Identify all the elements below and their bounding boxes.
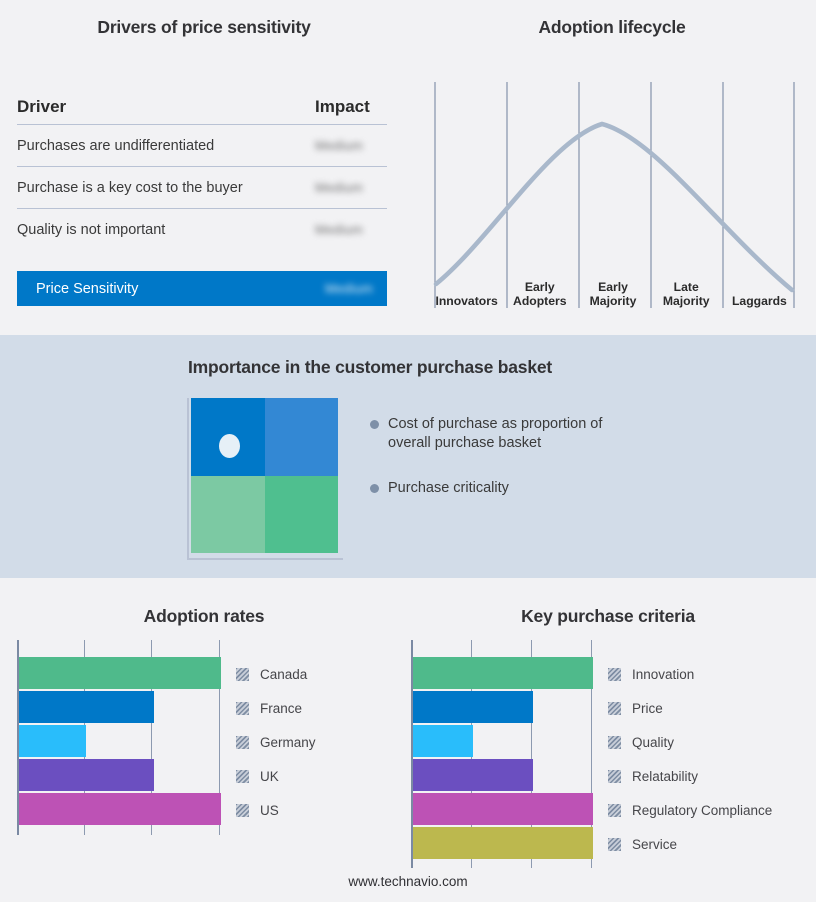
- legend-label: Regulatory Compliance: [632, 803, 772, 818]
- legend-label: Innovation: [632, 667, 694, 682]
- adoption-rates-chart: CanadaFranceGermanyUKUS: [17, 640, 316, 835]
- driver-label: Quality is not important: [17, 222, 165, 238]
- legend-item: US: [236, 793, 316, 827]
- hatched-swatch-icon: [236, 804, 249, 817]
- legend-label: Canada: [260, 667, 307, 682]
- column-header-driver: Driver: [17, 97, 66, 117]
- quadrant-grid: [191, 398, 338, 553]
- quadrant-x-axis: [187, 558, 343, 560]
- bar-france: [19, 691, 154, 723]
- legend-item: Germany: [236, 725, 316, 759]
- legend-item: Price: [608, 691, 772, 725]
- bar-quality: [413, 725, 473, 757]
- drivers-title: Drivers of price sensitivity: [0, 17, 408, 38]
- legend-label: Germany: [260, 735, 316, 750]
- key-purchase-criteria-title: Key purchase criteria: [400, 606, 816, 627]
- legend-label: Service: [632, 837, 677, 852]
- adoption-rates-legend: CanadaFranceGermanyUKUS: [236, 640, 316, 835]
- bar-regulatory-compliance: [413, 793, 593, 825]
- legend-item: Regulatory Compliance: [608, 793, 772, 827]
- bar-canada: [19, 657, 221, 689]
- table-row: Quality is not important Medium: [17, 209, 387, 250]
- footer-url: www.technavio.com: [0, 874, 816, 889]
- table-row: Purchases are undifferentiated Medium: [17, 125, 387, 167]
- quadrant-top-right: [265, 398, 339, 476]
- legend-label: Relatability: [632, 769, 698, 784]
- bullet-dot-icon: [370, 420, 379, 429]
- legend-item: Relatability: [608, 759, 772, 793]
- purchase-basket-legend: Cost of purchase as proportion of overal…: [370, 415, 670, 524]
- key-purchase-criteria-bars: [413, 640, 594, 868]
- position-marker-dot: [219, 434, 240, 458]
- hatched-swatch-icon: [608, 668, 621, 681]
- adoption-rates-title: Adoption rates: [0, 606, 408, 627]
- bar-uk: [19, 759, 154, 791]
- legend-item: Innovation: [608, 657, 772, 691]
- adoption-rates-plot: [17, 640, 222, 835]
- hatched-swatch-icon: [608, 702, 621, 715]
- hatched-swatch-icon: [608, 838, 621, 851]
- adoption-lifecycle-title: Adoption lifecycle: [408, 17, 816, 38]
- legend-label: UK: [260, 769, 279, 784]
- impact-value: Medium: [315, 222, 387, 238]
- purchase-basket-panel: Importance in the customer purchase bask…: [0, 335, 816, 578]
- hatched-swatch-icon: [236, 736, 249, 749]
- lifecycle-segment-early-adopters: EarlyAdopters: [503, 268, 576, 310]
- legend-item: Service: [608, 827, 772, 861]
- bar-service: [413, 827, 593, 859]
- adoption-lifecycle-chart: Innovators EarlyAdopters EarlyMajority L…: [430, 80, 796, 310]
- quadrant-y-axis: [187, 398, 189, 558]
- quadrant-bottom-right: [265, 476, 339, 554]
- driver-label: Purchase is a key cost to the buyer: [17, 180, 243, 196]
- legend-item: Quality: [608, 725, 772, 759]
- bar-innovation: [413, 657, 593, 689]
- lifecycle-segment-late-majority: LateMajority: [650, 268, 723, 310]
- hatched-swatch-icon: [236, 668, 249, 681]
- impact-value: Medium: [315, 180, 387, 196]
- price-sensitivity-impact: Medium: [325, 280, 373, 298]
- quadrant-matrix: [183, 398, 343, 566]
- key-purchase-criteria-plot: [411, 640, 594, 868]
- legend-item: Canada: [236, 657, 316, 691]
- legend-item: France: [236, 691, 316, 725]
- adoption-bell-curve: [436, 124, 792, 290]
- legend-label: Quality: [632, 735, 674, 750]
- legend-label: Purchase criticality: [388, 479, 509, 498]
- legend-label: France: [260, 701, 302, 716]
- lifecycle-segment-laggards: Laggards: [723, 268, 796, 310]
- column-header-impact: Impact: [315, 97, 387, 117]
- price-sensitivity-label: Price Sensitivity: [36, 281, 138, 297]
- price-sensitivity-highlight-row: Price Sensitivity Medium: [17, 271, 387, 306]
- key-purchase-criteria-legend: InnovationPriceQualityRelatabilityRegula…: [608, 640, 772, 868]
- legend-label: Price: [632, 701, 663, 716]
- legend-item: UK: [236, 759, 316, 793]
- list-item: Cost of purchase as proportion of overal…: [370, 415, 670, 453]
- lifecycle-segment-labels: Innovators EarlyAdopters EarlyMajority L…: [430, 268, 796, 310]
- bar-us: [19, 793, 221, 825]
- hatched-swatch-icon: [608, 804, 621, 817]
- key-purchase-criteria-panel: Key purchase criteria InnovationPriceQua…: [400, 578, 816, 878]
- bar-relatability: [413, 759, 533, 791]
- table-row: Purchase is a key cost to the buyer Medi…: [17, 167, 387, 209]
- adoption-rates-bars: [19, 640, 222, 835]
- bar-germany: [19, 725, 86, 757]
- hatched-swatch-icon: [236, 770, 249, 783]
- driver-label: Purchases are undifferentiated: [17, 138, 214, 154]
- adoption-rates-panel: Adoption rates CanadaFranceGermanyUKUS: [0, 578, 408, 878]
- adoption-lifecycle-panel: Adoption lifecycle Innovators EarlyAdopt…: [408, 0, 816, 335]
- impact-value: Medium: [315, 138, 387, 154]
- lifecycle-segment-early-majority: EarlyMajority: [576, 268, 649, 310]
- hatched-swatch-icon: [608, 770, 621, 783]
- purchase-basket-title: Importance in the customer purchase bask…: [0, 357, 740, 378]
- lifecycle-segment-innovators: Innovators: [430, 268, 503, 310]
- hatched-swatch-icon: [608, 736, 621, 749]
- drivers-table: Driver Impact Purchases are undifferenti…: [17, 90, 387, 250]
- bar-price: [413, 691, 533, 723]
- hatched-swatch-icon: [236, 702, 249, 715]
- legend-label: US: [260, 803, 279, 818]
- list-item: Purchase criticality: [370, 479, 670, 498]
- key-purchase-criteria-chart: InnovationPriceQualityRelatabilityRegula…: [411, 640, 772, 868]
- quadrant-bottom-left: [191, 476, 265, 554]
- drivers-table-header: Driver Impact: [17, 90, 387, 125]
- legend-label: Cost of purchase as proportion of overal…: [388, 415, 644, 453]
- bullet-dot-icon: [370, 484, 379, 493]
- drivers-panel: Drivers of price sensitivity Driver Impa…: [0, 0, 408, 335]
